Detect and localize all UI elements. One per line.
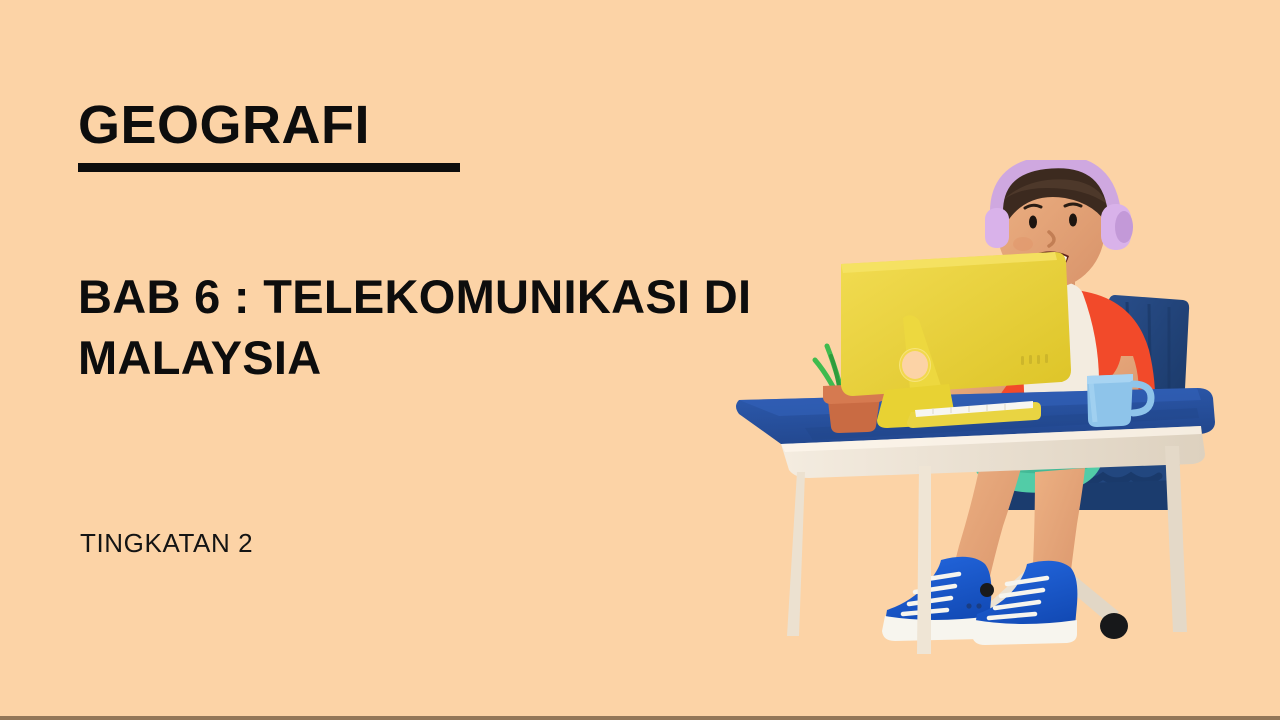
- title-underline: [78, 163, 460, 172]
- page-title: GEOGRAFI: [78, 98, 460, 152]
- sneakers-icon: [882, 557, 1077, 645]
- chapter-heading: BAB 6 : TELEKOMUNIKASI DI MALAYSIA: [78, 266, 758, 388]
- title-group: GEOGRAFI: [78, 98, 460, 172]
- slide-text-block: GEOGRAFI BAB 6 : TELEKOMUNIKASI DI MALAY…: [78, 98, 738, 172]
- form-level-label: TINGKATAN 2: [80, 528, 253, 559]
- presentation-slide: GEOGRAFI BAB 6 : TELEKOMUNIKASI DI MALAY…: [0, 0, 1280, 720]
- desk-work-illustration: [735, 160, 1235, 670]
- bottom-edge-bar: [0, 716, 1280, 720]
